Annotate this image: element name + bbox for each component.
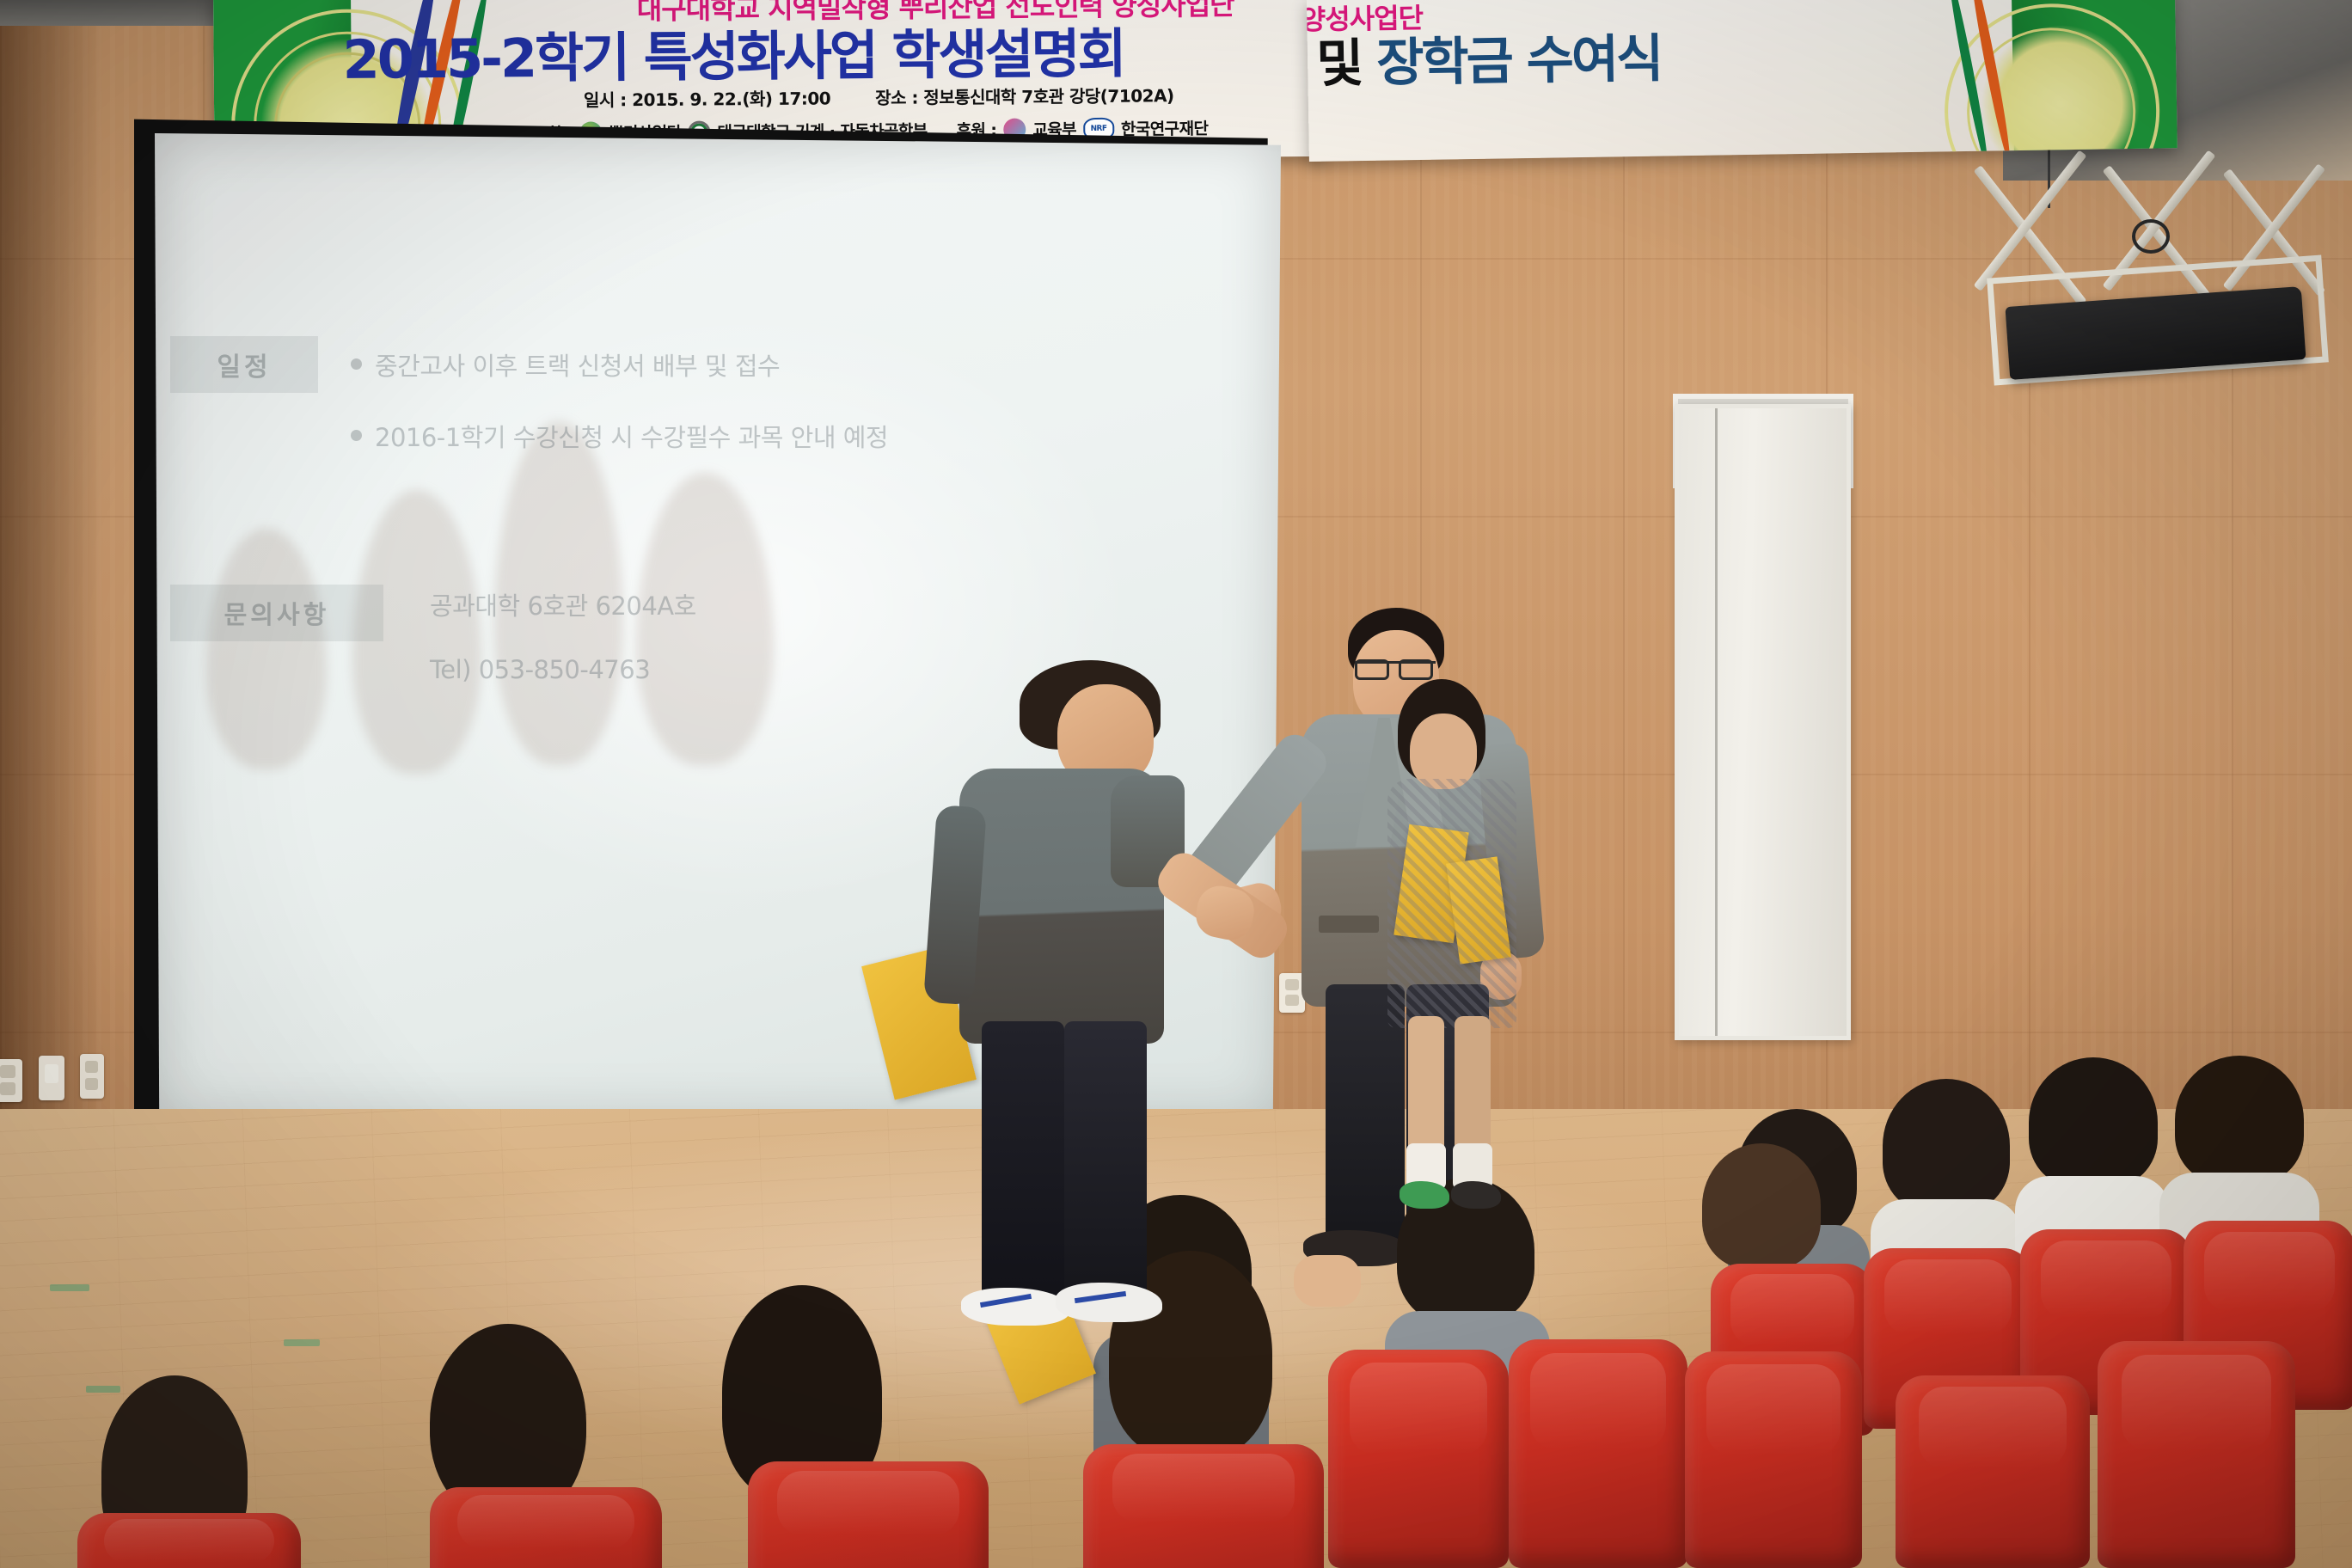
auditorium-seat — [430, 1487, 662, 1568]
audience-hair — [2175, 1056, 2304, 1185]
audience-hair — [2029, 1057, 2158, 1188]
wall-socket-left — [0, 1059, 22, 1102]
auditorium-seat — [1328, 1350, 1509, 1568]
slide-bullet-icon — [351, 430, 362, 441]
assistant-shoe — [1451, 1181, 1501, 1209]
audience-hand — [1294, 1255, 1361, 1307]
audience-hair — [1883, 1079, 2010, 1213]
assistant-shoe — [1400, 1181, 1449, 1209]
slide-section-tag: 문의사항 — [170, 585, 383, 641]
light-switch[interactable] — [39, 1056, 64, 1100]
audience-hair — [1702, 1143, 1821, 1269]
auditorium-seat — [1509, 1339, 1687, 1568]
student-leg — [982, 1021, 1064, 1305]
assistant-head — [1410, 714, 1477, 789]
door-seam — [1715, 408, 1718, 1036]
banner-place: 장소 : 정보통신대학 7호관 강당(7102A) — [875, 82, 1174, 109]
presenter-pocket-flap — [1319, 916, 1379, 933]
ceremony-photo: 대구대학교 지역밀착형 뿌리산업 선도인력 양성사업단 2015-2학기 특성화… — [0, 0, 2352, 1568]
auditorium-seat — [1896, 1375, 2090, 1568]
slide-bullet-text: 2016-1학기 수강신청 시 수강필수 과목 안내 예정 — [375, 418, 888, 454]
student-in-grey-tshirt — [928, 662, 1221, 1298]
assistant-in-patterned-dress — [1372, 679, 1527, 1229]
student-leg — [1064, 1021, 1147, 1305]
auditorium-seat — [748, 1461, 989, 1568]
auditorium-seat — [2098, 1341, 2295, 1568]
floor-tape-mark — [50, 1284, 89, 1291]
slide-bullet-icon — [351, 358, 362, 370]
auditorium-seat — [1685, 1351, 1862, 1568]
banner-title-secondary-text: 장학금 수여식 — [1376, 29, 1662, 94]
banner-title-secondary: 및 장학금 수여식 — [1315, 17, 1662, 97]
slide-section-tag: 일정 — [170, 336, 318, 393]
presenter-glasses-lens — [1399, 659, 1433, 680]
stage-right-door[interactable] — [1675, 404, 1851, 1040]
assistant-dress — [1387, 779, 1516, 1028]
banner-info-row: 일시 : 2015. 9. 22.(화) 17:00 장소 : 정보통신대학 7… — [584, 81, 1323, 112]
auditorium-seat — [77, 1513, 301, 1568]
slide-contact-line: Tel) 053-850-4763 — [430, 655, 650, 684]
wall-socket-right — [80, 1054, 104, 1099]
event-banner-right: 대구대학교 지역밀착형 뿌리산업 선도인력 양성사업단 및 장학금 수여식 — [1307, 0, 2177, 162]
presenter-glasses-lens — [1355, 659, 1389, 680]
cable-coil — [2132, 219, 2170, 254]
banner-title-conjunction: 및 — [1316, 34, 1362, 95]
truss-bar — [1974, 150, 2087, 291]
floor-tape-mark — [86, 1386, 120, 1393]
slide-bullet-text: 중간고사 이후 트랙 신청서 배부 및 접수 — [375, 346, 780, 383]
banner-date: 일시 : 2015. 9. 22.(화) 17:00 — [584, 84, 830, 111]
auditorium-seat — [1083, 1444, 1324, 1568]
slide-contact-line: 공과대학 6호관 6204A호 — [430, 586, 696, 622]
student-sneaker — [961, 1288, 1069, 1326]
floor-tape-mark — [284, 1339, 320, 1346]
banner-title: 2015-2학기 특성화사업 학생설명회 — [342, 9, 1323, 94]
